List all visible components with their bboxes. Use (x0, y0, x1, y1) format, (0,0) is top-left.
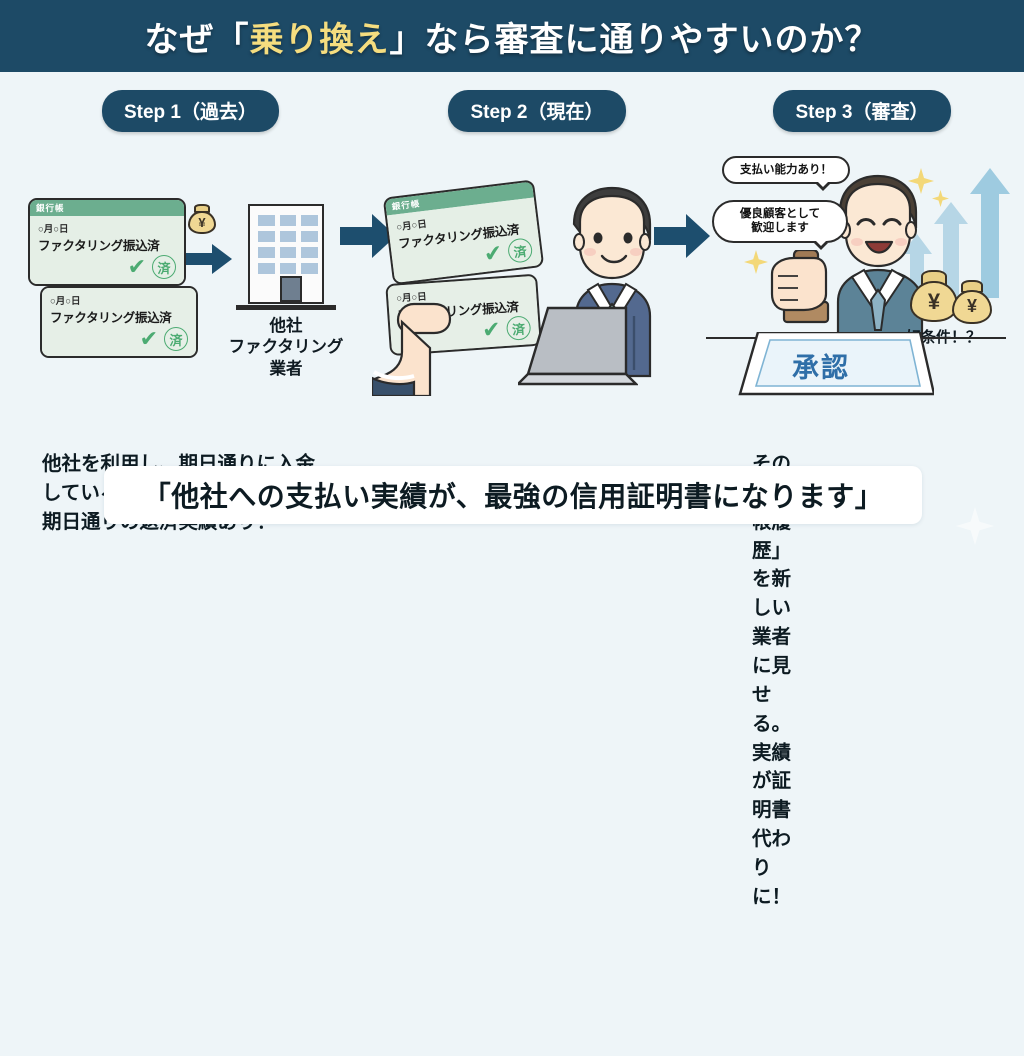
check-icon: ✔ (140, 328, 158, 350)
company-building-icon: 他社 ファクタリング 業者 (236, 198, 336, 310)
bankbook-entry: ○月○日 ファクタリング振込済 ✔ 済 (42, 288, 196, 356)
building-label: 他社 ファクタリング 業者 (220, 316, 352, 380)
decorative-sparkle-icon (956, 507, 994, 545)
holding-hand-icon (372, 286, 507, 401)
entry-marks: ✔ 済 (38, 254, 176, 280)
entry-marks: ✔ 済 (50, 326, 188, 352)
step-3-pill: Step 3（審査） (773, 90, 950, 132)
bankbook-header-label: 銀行帳 (30, 200, 184, 216)
step-1-column: Step 1（過去） 銀行帳 ○月○日 ファクタリング振込済 ✔ 済 ○月○日 (18, 90, 363, 398)
bankbook-page-bottom: ○月○日 ファクタリング振込済 ✔ 済 (40, 286, 198, 358)
header-bar: なぜ「乗り換え」なら審査に通りやすいのか？ (0, 0, 1024, 72)
yen-symbol: ¥ (198, 215, 205, 230)
bankbook-entry: ○月○日 ファクタリング振込済 ✔ 済 (30, 216, 184, 284)
entry-date: ○月○日 (50, 293, 188, 307)
money-bag-icon: ¥ (910, 270, 958, 322)
bubble-text: 優良顧客として 歓迎します (740, 208, 820, 234)
title-close-bracket: 」 (390, 21, 425, 59)
page-title: なぜ「乗り換え」なら審査に通りやすいのか？ (145, 12, 880, 61)
step-2-pill: Step 2（現在） (448, 90, 625, 132)
banner-text: 「他社への支払い実績が、最強の信用証明書になります」 (143, 475, 883, 515)
approval-stamp-text: 承認 (792, 346, 850, 385)
bottom-banner: 「他社への支払い実績が、最強の信用証明書になります」 (104, 466, 922, 524)
laptop-icon (518, 296, 638, 393)
entry-line: ファクタリング振込済 (38, 235, 176, 254)
paid-stamp-icon: 済 (164, 327, 188, 351)
money-bag-icon: ¥ (952, 280, 992, 324)
yen-symbol: ¥ (928, 289, 940, 315)
title-highlight: 乗り換え (250, 21, 390, 59)
step-1-illustration: 銀行帳 ○月○日 ファクタリング振込済 ✔ 済 ○月○日 ファクタリング振込済 … (18, 146, 363, 398)
approval-document: 承認 (734, 332, 934, 403)
step-3-illustration: 支払い能力あり！ 優良顧客として 歓迎します ¥ ¥ 好条件！？ (706, 146, 1018, 398)
bankbook-page-top: 銀行帳 ○月○日 ファクタリング振込済 ✔ 済 (28, 198, 186, 286)
check-icon: ✔ (483, 242, 504, 266)
title-open-bracket: 「 (215, 21, 250, 59)
paid-stamp-icon: 済 (507, 237, 534, 264)
step-1-pill: Step 1（過去） (102, 90, 279, 132)
flow-arrow-2-to-3 (654, 214, 710, 263)
yen-symbol: ¥ (967, 296, 977, 317)
flow-arrow-small (186, 244, 232, 279)
bubble-text: 支払い能力あり！ (740, 164, 832, 176)
money-bag-icon: ¥ (188, 204, 216, 234)
step-2-illustration: 銀行帳 ○月○日 ファクタリング振込済 ✔ 済 ○月○日 ファクタリング振込済 (372, 146, 702, 398)
infographic-canvas: なぜ「乗り換え」なら審査に通りやすいのか？ Step 1（過去） 銀行帳 ○月○… (0, 0, 1024, 559)
paid-stamp-icon: 済 (152, 255, 176, 279)
title-pre: なぜ (145, 21, 215, 59)
title-post: なら審査に通りやすいのか？ (425, 21, 880, 59)
speech-bubble-welcome: 優良顧客として 歓迎します (712, 200, 848, 243)
bankbook-page-top: 銀行帳 ○月○日 ファクタリング振込済 ✔ 済 (383, 179, 545, 285)
check-icon: ✔ (128, 256, 146, 278)
entry-line: ファクタリング振込済 (50, 307, 188, 326)
entry-date: ○月○日 (38, 221, 176, 235)
step-3-column: Step 3（審査） (706, 90, 1018, 398)
speech-bubble-ability: 支払い能力あり！ (722, 156, 850, 184)
step-2-column: Step 2（現在） 銀行帳 ○月○日 ファクタリング振込済 ✔ 済 (372, 90, 702, 398)
